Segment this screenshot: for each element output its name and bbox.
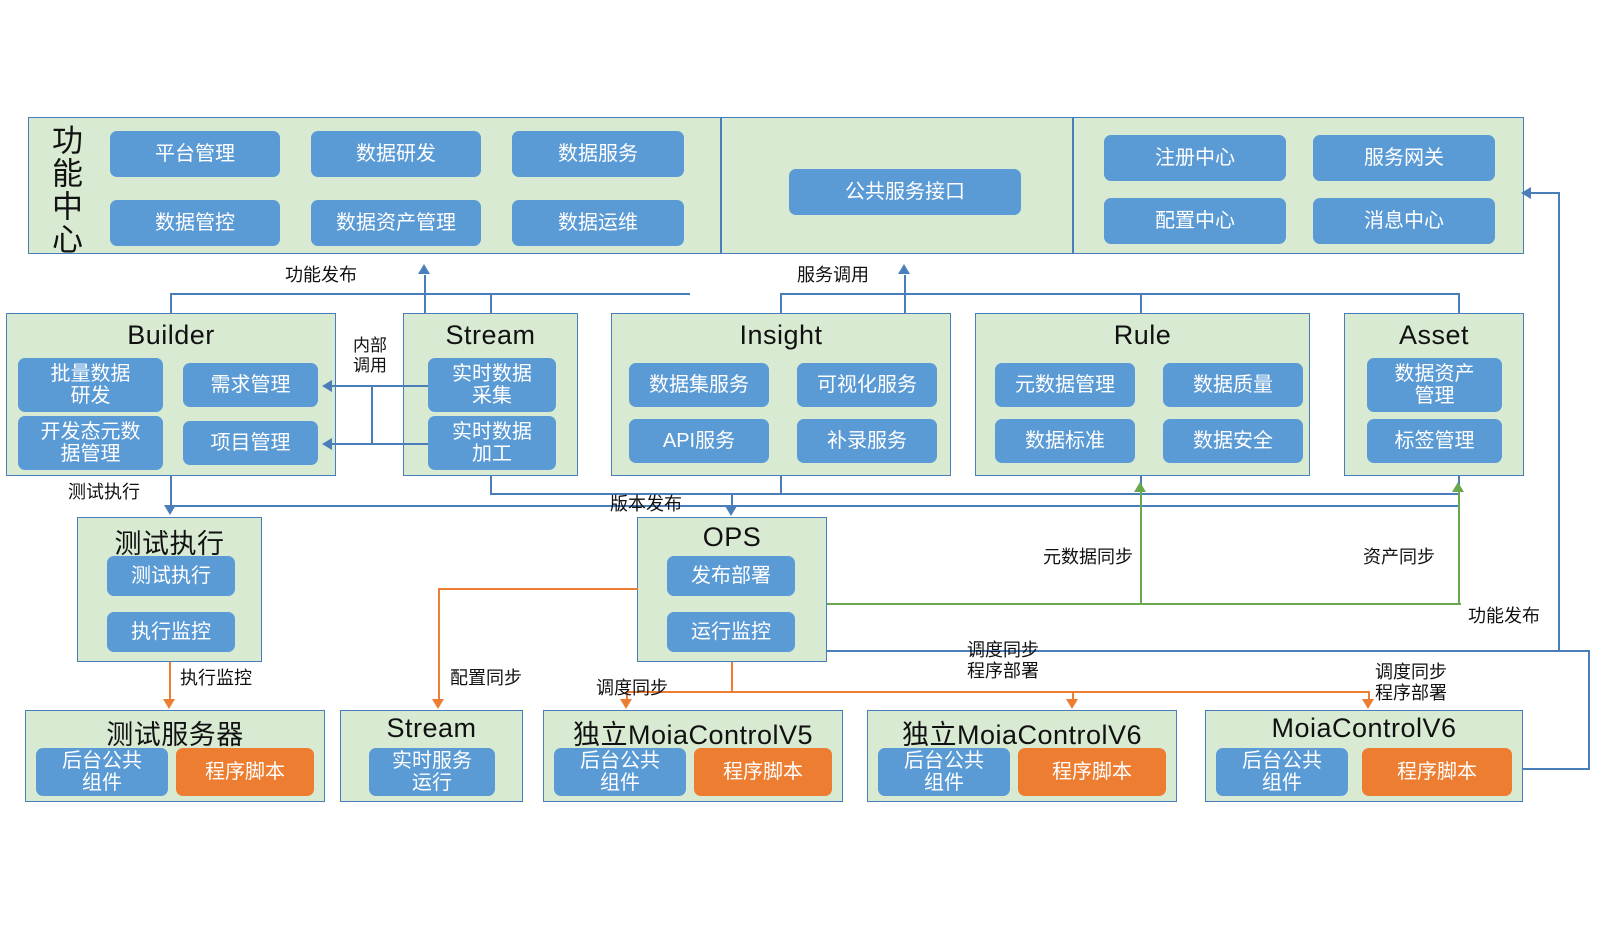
conn-asset-sync-arrowhead [1452, 482, 1464, 492]
conn-testexec-arrowhead [164, 505, 176, 515]
conn-servicecall-arrowhead [898, 264, 910, 274]
chip-batch-data-development[interactable]: 批量数据 研发 [18, 358, 163, 412]
conn-sched-bus [626, 691, 1368, 693]
label-exec-monitor: 执行监控 [180, 668, 252, 689]
label-metadata-sync: 元数据同步 [1043, 547, 1133, 568]
chip-public-service-interface[interactable]: 公共服务接口 [789, 169, 1021, 215]
chip-backend-common-component-4[interactable]: 后台公共 组件 [1216, 748, 1348, 796]
chip-execution-monitor[interactable]: 执行监控 [107, 612, 235, 652]
label-function-publish-top: 功能发布 [285, 265, 357, 286]
server-title-stream: Stream [340, 713, 523, 744]
chip-requirement-management[interactable]: 需求管理 [183, 363, 318, 407]
conn-internal-riser [371, 385, 373, 443]
conn-sched-v6-arrowhead [1066, 699, 1078, 709]
conn-v6-join-h [1558, 650, 1590, 652]
conn-asset-drop [1458, 293, 1460, 314]
conn-fnpub-right-to-panel [1527, 192, 1560, 194]
conn-verpub-stream-drop [490, 476, 492, 494]
server-title-standalone-v5: 独立MoiaControlV5 [543, 713, 843, 752]
conn-testexec-from-builder [170, 476, 172, 506]
chip-data-development[interactable]: 数据研发 [311, 131, 481, 177]
chip-supplement-service[interactable]: 补录服务 [797, 419, 937, 463]
midbox-title-ops: OPS [637, 522, 827, 553]
chip-dev-metadata-management[interactable]: 开发态元数 据管理 [18, 416, 163, 470]
function-center-divider-2 [1072, 117, 1074, 254]
server-title-moiacontrolv6: MoiaControlV6 [1205, 713, 1523, 744]
chip-dataset-service[interactable]: 数据集服务 [629, 363, 769, 407]
label-service-call: 服务调用 [797, 265, 869, 286]
chip-backend-common-component-1[interactable]: 后台公共 组件 [36, 748, 168, 796]
label-schedule-sync-deploy-1: 调度同步 程序部署 [967, 640, 1039, 682]
server-title-standalone-v6: 独立MoiaControlV6 [867, 713, 1177, 752]
conn-fnpub-right-arrowhead [1521, 187, 1531, 199]
chip-realtime-data-processing[interactable]: 实时数据 加工 [428, 416, 556, 470]
conn-sched-moiav6-arrowhead [1362, 699, 1374, 709]
server-title-test-server: 测试服务器 [25, 713, 325, 752]
chip-service-gateway[interactable]: 服务网关 [1313, 135, 1495, 181]
conn-rule-drop [1140, 293, 1142, 314]
chip-project-management[interactable]: 项目管理 [183, 421, 318, 465]
chip-metadata-management[interactable]: 元数据管理 [995, 363, 1135, 407]
conn-execmonitor-v [169, 662, 171, 702]
chip-backend-common-component-3[interactable]: 后台公共 组件 [878, 748, 1010, 796]
label-asset-sync: 资产同步 [1363, 547, 1435, 568]
conn-testexec-h [170, 505, 1460, 507]
conn-modulebus-left [170, 293, 690, 295]
chip-data-operations[interactable]: 数据运维 [512, 200, 684, 246]
conn-insight-drop [780, 293, 782, 314]
chip-release-deploy[interactable]: 发布部署 [667, 556, 795, 596]
function-center-title: 功能中心 [40, 124, 80, 256]
conn-v6-right-h [1523, 768, 1590, 770]
chip-tag-management[interactable]: 标签管理 [1367, 419, 1502, 463]
conn-configsync-v [438, 588, 440, 702]
label-internal-call: 内部 调用 [340, 336, 400, 376]
label-schedule-sync-deploy-2: 调度同步 程序部署 [1375, 662, 1447, 704]
chip-test-execution[interactable]: 测试执行 [107, 556, 235, 596]
conn-sched-v5-arrowhead [620, 699, 632, 709]
label-schedule-sync: 调度同步 [596, 678, 668, 699]
chip-backend-common-component-2[interactable]: 后台公共 组件 [554, 748, 686, 796]
label-config-sync: 配置同步 [450, 668, 522, 689]
conn-metadata-sync-h [827, 603, 1461, 605]
conn-metadata-sync-arrowhead [1134, 482, 1146, 492]
conn-verpub-arrowhead [725, 506, 737, 516]
chip-program-script-4[interactable]: 程序脚本 [1362, 748, 1512, 796]
conn-sched-drop [731, 662, 733, 693]
chip-api-service[interactable]: API服务 [629, 419, 769, 463]
conn-modulebus-right [780, 293, 1460, 295]
chip-data-service[interactable]: 数据服务 [512, 131, 684, 177]
function-center-divider-1 [720, 117, 722, 254]
conn-internal-arrow-top [322, 380, 332, 392]
conn-internal-bottom [330, 443, 428, 445]
chip-data-standard[interactable]: 数据标准 [995, 419, 1135, 463]
chip-registry-center[interactable]: 注册中心 [1104, 135, 1286, 181]
conn-fnpub-arrowhead [418, 264, 430, 274]
module-title-insight: Insight [611, 320, 951, 351]
conn-configsync-arrowhead [432, 699, 444, 709]
label-version-publish: 版本发布 [610, 494, 682, 515]
module-title-rule: Rule [975, 320, 1310, 351]
conn-asset-sync-v [1458, 492, 1460, 604]
chip-visualization-service[interactable]: 可视化服务 [797, 363, 937, 407]
chip-data-asset-mgmt[interactable]: 数据资产 管理 [1367, 358, 1502, 412]
module-title-asset: Asset [1344, 320, 1524, 351]
chip-message-center[interactable]: 消息中心 [1313, 198, 1495, 244]
architecture-diagram: 功能中心 平台管理 数据研发 数据服务 数据管控 数据资产管理 数据运维 公共服… [0, 0, 1611, 940]
chip-realtime-data-collection[interactable]: 实时数据 采集 [428, 358, 556, 412]
conn-stream-drop [490, 293, 492, 314]
chip-program-script-2[interactable]: 程序脚本 [694, 748, 832, 796]
conn-execmonitor-arrowhead [163, 699, 175, 709]
chip-data-governance[interactable]: 数据管控 [110, 200, 280, 246]
conn-verpub-insight-drop [780, 476, 782, 494]
chip-realtime-service-run[interactable]: 实时服务 运行 [369, 748, 495, 796]
module-title-stream: Stream [403, 320, 578, 351]
label-test-execute: 测试执行 [68, 482, 140, 503]
chip-data-quality[interactable]: 数据质量 [1163, 363, 1303, 407]
conn-configsync-h [438, 588, 638, 590]
chip-platform-management[interactable]: 平台管理 [110, 131, 280, 177]
conn-internal-top [330, 385, 428, 387]
conn-fnpub-right-h [827, 650, 1560, 652]
conn-internal-arrow-bottom [322, 438, 332, 450]
conn-fnpub-right-v [1558, 192, 1560, 651]
module-title-builder: Builder [6, 320, 336, 351]
chip-runtime-monitor[interactable]: 运行监控 [667, 612, 795, 652]
conn-v6-right-v [1588, 650, 1590, 770]
chip-program-script-1[interactable]: 程序脚本 [176, 748, 314, 796]
chip-data-security[interactable]: 数据安全 [1163, 419, 1303, 463]
conn-metadata-sync-v [1140, 492, 1142, 604]
chip-data-asset-management[interactable]: 数据资产管理 [311, 200, 481, 246]
chip-program-script-3[interactable]: 程序脚本 [1018, 748, 1166, 796]
chip-config-center[interactable]: 配置中心 [1104, 198, 1286, 244]
conn-builder-drop [170, 293, 172, 314]
label-function-publish-right: 功能发布 [1468, 606, 1540, 627]
